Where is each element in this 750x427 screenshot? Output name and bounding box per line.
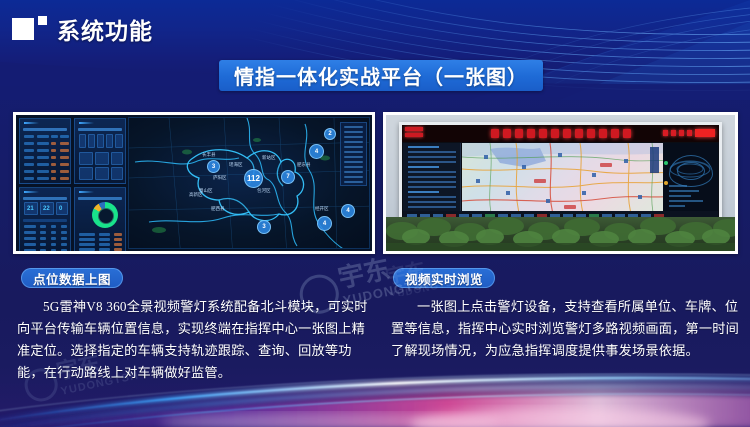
wall-left-tree-panel: [403, 143, 461, 211]
caption-badge-left-label: 点位数据上图: [33, 269, 111, 288]
dashboard-stat-2: 22: [43, 206, 50, 212]
led-center-text: [491, 129, 631, 138]
map-label-baohe: 包河区: [257, 188, 271, 194]
caption-badge-right: 视频实时浏览: [393, 268, 495, 288]
map-label-xinzhan: 新站区: [262, 155, 276, 161]
dashboard-map-canvas: 长丰县 新站区 瑶海区 庐阳区 蜀山区 包河区 肥东县 肥西县 经开区 高新区 …: [128, 117, 370, 249]
dashboard-panel-summary-list: 21 22 0: [19, 187, 71, 251]
map-label-luyang: 庐阳区: [213, 175, 227, 181]
screenshot-right-inner: [386, 115, 735, 251]
wall-map-vector: [462, 143, 663, 211]
map-cluster-marker-2[interactable]: 2: [324, 128, 336, 140]
map-cluster-marker-3a[interactable]: 3: [207, 160, 220, 173]
caption-badge-right-label: 视频实时浏览: [405, 269, 483, 288]
screenshot-left-inner: 21 22 0: [16, 115, 372, 251]
square-bullet-large-icon: [12, 18, 34, 40]
svg-text:宇东: 宇东: [335, 253, 392, 293]
map-label-gaoxin: 高新区: [189, 192, 203, 198]
dashboard-stat-3: 0: [59, 206, 62, 212]
video-wall-frame: [399, 122, 722, 223]
plants-vector: [386, 217, 735, 251]
command-center-photo: [386, 115, 735, 251]
body-paragraph-right: 一张图上点击警灯设备，支持查看所属单位、车牌、位置等信息，指挥中心实时浏览警灯多…: [391, 296, 743, 362]
square-bullet-small-icon: [38, 16, 47, 25]
screenshot-command-center: [383, 112, 738, 254]
wall-right-vector: [663, 143, 718, 217]
title-banner: 情指一体化实战平台（一张图）: [219, 60, 543, 91]
dashboard-panel-table-top: [19, 118, 71, 184]
led-left-text: [405, 127, 423, 137]
map-cluster-marker-112[interactable]: 112: [244, 169, 263, 188]
title-banner-label: 情指一体化实战平台（一张图）: [234, 61, 528, 90]
caption-badge-left: 点位数据上图: [21, 268, 123, 288]
map-cluster-marker-4a[interactable]: 4: [309, 144, 324, 159]
wall-right-analytics-panel: [663, 143, 718, 211]
wall-center-gis-map: [462, 143, 663, 211]
donut-chart-icon: [92, 202, 118, 228]
map-cluster-marker-4b[interactable]: 4: [341, 204, 355, 218]
dashboard-panel-donut-chart: [74, 187, 126, 251]
map-cluster-marker-7[interactable]: 7: [281, 170, 295, 184]
map-cluster-marker-3b[interactable]: 3: [257, 220, 271, 234]
map-label-feixi: 肥西县: [211, 206, 225, 212]
map-cluster-marker-4c[interactable]: 4: [317, 216, 332, 231]
dashboard-panel-device-stats: [74, 118, 126, 184]
slide-header: 系统功能: [0, 12, 153, 46]
map-side-legend-panel[interactable]: [340, 122, 367, 186]
dashboard-stat-1: 21: [27, 206, 34, 212]
led-right-text: [663, 129, 715, 137]
map-label-yaohai: 瑶海区: [229, 162, 243, 168]
map-label-feidong: 肥东县: [297, 162, 311, 168]
led-marquee-banner: [402, 125, 719, 142]
body-paragraph-left: 5G雷神V8 360全景视频警灯系统配备北斗模块，可实时向平台传输车辆位置信息，…: [17, 296, 369, 384]
map-label-jingkai: 经开区: [315, 206, 329, 212]
slide-root: 系统功能 情指一体化实战平台（一张图）: [0, 0, 750, 427]
page-title: 系统功能: [57, 12, 153, 46]
dashboard-canvas: 21 22 0: [16, 115, 372, 251]
plants-foreground: [386, 217, 735, 251]
video-wall-screen: [402, 125, 719, 220]
map-label-changfeng: 长丰县: [202, 152, 216, 158]
screenshot-gis-dashboard: 21 22 0: [13, 112, 375, 254]
